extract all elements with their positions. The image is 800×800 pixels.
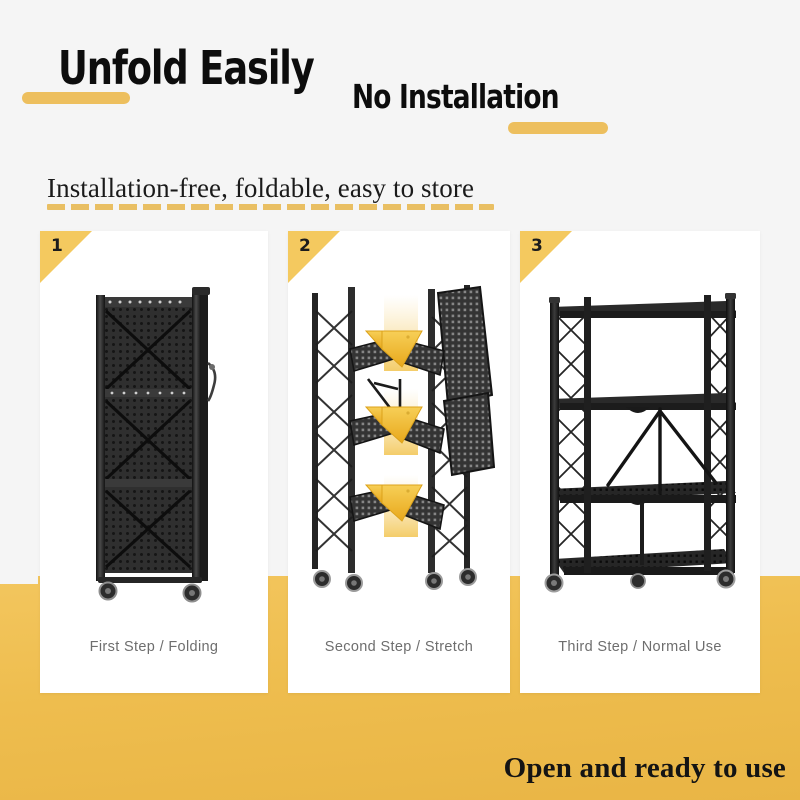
headline-primary: Unfold Easily: [58, 45, 314, 91]
headline-secondary: No Installation: [352, 80, 559, 113]
step-card-3[interactable]: 3: [520, 231, 760, 693]
stretching-rack-illustration: [288, 271, 510, 611]
step-caption-1: First Step / Folding: [40, 639, 268, 655]
step-number-2: 2: [299, 236, 311, 256]
folded-rack-illustration: [40, 271, 268, 611]
step-number-3: 3: [531, 236, 543, 256]
subtitle-dashed-underline: [47, 204, 494, 210]
product-infographic: Unfold Easily No Installation Installati…: [0, 0, 800, 800]
step-card-1[interactable]: 1: [40, 231, 268, 693]
step-number-1: 1: [51, 236, 63, 256]
steps-card-row: 1: [0, 231, 800, 693]
step-card-2[interactable]: 2: [288, 231, 510, 693]
step-caption-2: Second Step / Stretch: [288, 639, 510, 655]
assembled-rack-illustration: [520, 271, 760, 611]
subtitle-block: Installation-free, foldable, easy to sto…: [47, 174, 494, 210]
accent-pill-secondary: [508, 122, 608, 134]
bottom-tagline: Open and ready to use: [504, 752, 786, 785]
subtitle-text: Installation-free, foldable, easy to sto…: [47, 174, 494, 202]
step-caption-3: Third Step / Normal Use: [520, 639, 760, 655]
headline-block: Unfold Easily No Installation: [0, 0, 800, 160]
